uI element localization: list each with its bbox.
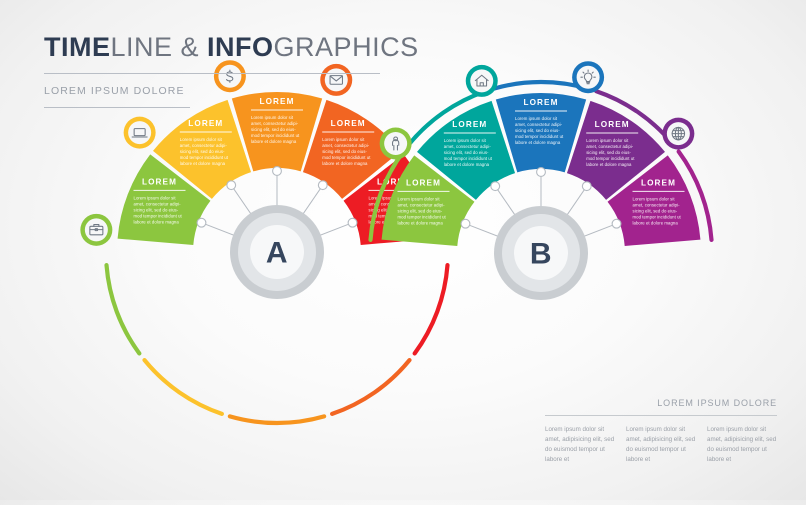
connector-node[interactable]	[612, 219, 621, 228]
segment-body-line: mod tempor incididunt ut	[515, 134, 564, 139]
page-title: TIMELINE & INFOGRAPHICS	[44, 34, 384, 61]
segment-body-line: sicing elit, sed do eius-	[633, 208, 678, 213]
icon-badge-face	[384, 132, 407, 155]
segment-body-line: Lorem ipsum dolor sit	[515, 116, 558, 121]
segment-body-line: sicing elit, sed do eius-	[444, 150, 489, 155]
segment-body-line: Lorem ipsum dolor sit	[322, 137, 365, 142]
segment-title: LOREM	[331, 119, 366, 128]
infographic-canvas: TIMELINE & INFOGRAPHICS LOREM IPSUM DOLO…	[0, 0, 806, 500]
segment-body-line: Lorem ipsum dolor sit	[633, 196, 676, 201]
segment-body-line: Lorem ipsum dolor sit	[586, 138, 629, 143]
segment-body-line: mod tempor incididunt ut	[251, 133, 300, 138]
wheel-b: LOREMLorem ipsum dolor sitamet, consecte…	[371, 61, 712, 300]
page-subtitle: LOREM IPSUM DOLORE	[44, 85, 384, 97]
connector-node[interactable]	[197, 218, 206, 227]
segment-body-line: mod tempor incididunt ut	[134, 213, 183, 218]
header-divider-secondary	[44, 107, 190, 108]
segment-title: LOREM	[142, 177, 177, 186]
segment-title: LOREM	[641, 178, 676, 187]
hub-letter: B	[530, 238, 552, 271]
connector-node[interactable]	[582, 182, 591, 191]
connector-node[interactable]	[461, 219, 470, 228]
title-part-info: INFO	[207, 32, 274, 62]
segment-body-line: Lorem ipsum dolor sit	[180, 137, 223, 142]
segment-body-line: Lorem ipsum dolor sit	[251, 115, 294, 120]
title-part-time: TIME	[44, 32, 111, 62]
segment-body-line: mod tempor incididunt ut	[633, 214, 682, 219]
segment-body-line: sicing elit, sed do eius-	[322, 149, 367, 154]
segment-body-line: labore et dolore magna	[586, 162, 632, 167]
header: TIMELINE & INFOGRAPHICS LOREM IPSUM DOLO…	[44, 34, 384, 108]
footer-column: Lorem ipsum dolor sit amet, adipisicing …	[707, 425, 777, 465]
globe-icon[interactable]	[672, 127, 684, 139]
wheel-b-hub[interactable]: B	[494, 206, 588, 300]
wheel-outer-ring-arc	[107, 265, 140, 353]
title-part-line: LINE &	[111, 32, 208, 62]
icon-badge-face	[577, 66, 600, 89]
segment-body-line: mod tempor incididunt ut	[444, 156, 493, 161]
segment-body-line: labore et dolore magna	[134, 219, 180, 224]
segment-body-line: mod tempor incididunt ut	[322, 155, 371, 160]
segment-title: LOREM	[452, 120, 487, 129]
segment-body-line: mod tempor incididunt ut	[586, 156, 635, 161]
segment-body-line: Lorem ipsum dolor sit	[398, 196, 441, 201]
wheel-outer-ring-arc	[332, 360, 409, 414]
segment-body-line: sicing elit, sed do eius-	[515, 128, 560, 133]
segment-title: LOREM	[523, 98, 558, 107]
segment-body-line: amet, consectetur adipi-	[633, 202, 681, 207]
connector-node[interactable]	[491, 182, 500, 191]
segment-body-line: Lorem ipsum dolor sit	[444, 138, 487, 143]
segment-body-line: sicing elit, sed do eius-	[586, 150, 631, 155]
icon-badge[interactable]	[124, 117, 156, 149]
title-part-graphics: GRAPHICS	[274, 32, 419, 62]
icon-badge[interactable]	[80, 214, 112, 246]
footer-columns: Lorem ipsum dolor sit amet, adipisicing …	[545, 425, 777, 465]
segment-title: LOREM	[188, 119, 223, 128]
header-divider	[44, 73, 380, 74]
connector-node[interactable]	[318, 181, 327, 190]
footer-divider	[545, 415, 777, 416]
connector-node[interactable]	[348, 218, 357, 227]
segment-body-line: amet, consectetur adipi-	[515, 122, 563, 127]
footer-column: Lorem ipsum dolor sit amet, adipisicing …	[545, 425, 615, 465]
segment-body-line: amet, consectetur adipi-	[322, 143, 370, 148]
icon-badge[interactable]	[380, 127, 412, 159]
segment-body-line: mod tempor incididunt ut	[398, 214, 447, 219]
footer-title: LOREM IPSUM DOLORE	[545, 398, 777, 408]
segment-body-line: sicing elit, sed do eius-	[180, 149, 225, 154]
hub-letter: A	[266, 237, 288, 270]
segment-body-line: labore et dolore magna	[444, 162, 490, 167]
wheel-outer-ring-arc	[144, 360, 221, 414]
connector-node[interactable]	[273, 167, 282, 176]
segment-body-line: amet, consectetur adipi-	[251, 121, 299, 126]
icon-badge[interactable]	[466, 65, 498, 97]
wheel-a: LOREMLorem ipsum dolor sitamet, consecte…	[80, 60, 447, 423]
segment-body-line: mod tempor incididunt ut	[180, 155, 229, 160]
connector-node[interactable]	[537, 168, 546, 177]
icon-badge[interactable]	[662, 118, 694, 150]
segment-body-line: labore et dolore magna	[180, 161, 226, 166]
segment-body-line: Lorem ipsum dolor sit	[134, 195, 177, 200]
segment-title: LOREM	[406, 178, 441, 187]
segment-body-line: labore et dolore magna	[398, 220, 444, 225]
segment-body-line: labore et dolore magna	[251, 139, 297, 144]
segment-body-line: labore et dolore magna	[322, 161, 368, 166]
segment-title: LOREM	[595, 120, 630, 129]
wheel-a-hub[interactable]: A	[230, 205, 324, 299]
wheel-outer-ring-arc	[230, 416, 324, 423]
segment-body-line: labore et dolore magna	[515, 140, 561, 145]
icon-badge-face	[470, 69, 493, 92]
segment-body-line: amet, consectetur adipi-	[398, 202, 446, 207]
wheel-outer-ring-arc	[415, 265, 448, 353]
icon-badge[interactable]	[572, 61, 604, 93]
segment-body-line: amet, consectetur adipi-	[134, 201, 182, 206]
footer-column: Lorem ipsum dolor sit amet, adipisicing …	[626, 425, 696, 465]
segment-body-line: amet, consectetur adipi-	[586, 144, 634, 149]
segment-body-line: labore et dolore magna	[633, 220, 679, 225]
segment-body-line: amet, consectetur adipi-	[444, 144, 492, 149]
segment-body-line: sicing elit, sed do eius-	[398, 208, 443, 213]
segment-body-line: amet, consectetur adipi-	[180, 143, 228, 148]
segment-body-line: sicing elit, sed do eius-	[134, 207, 179, 212]
footer: LOREM IPSUM DOLORE Lorem ipsum dolor sit…	[545, 398, 777, 465]
segment-body-line: sicing elit, sed do eius-	[251, 127, 296, 132]
connector-node[interactable]	[227, 181, 236, 190]
icon-badge-face	[128, 121, 151, 144]
